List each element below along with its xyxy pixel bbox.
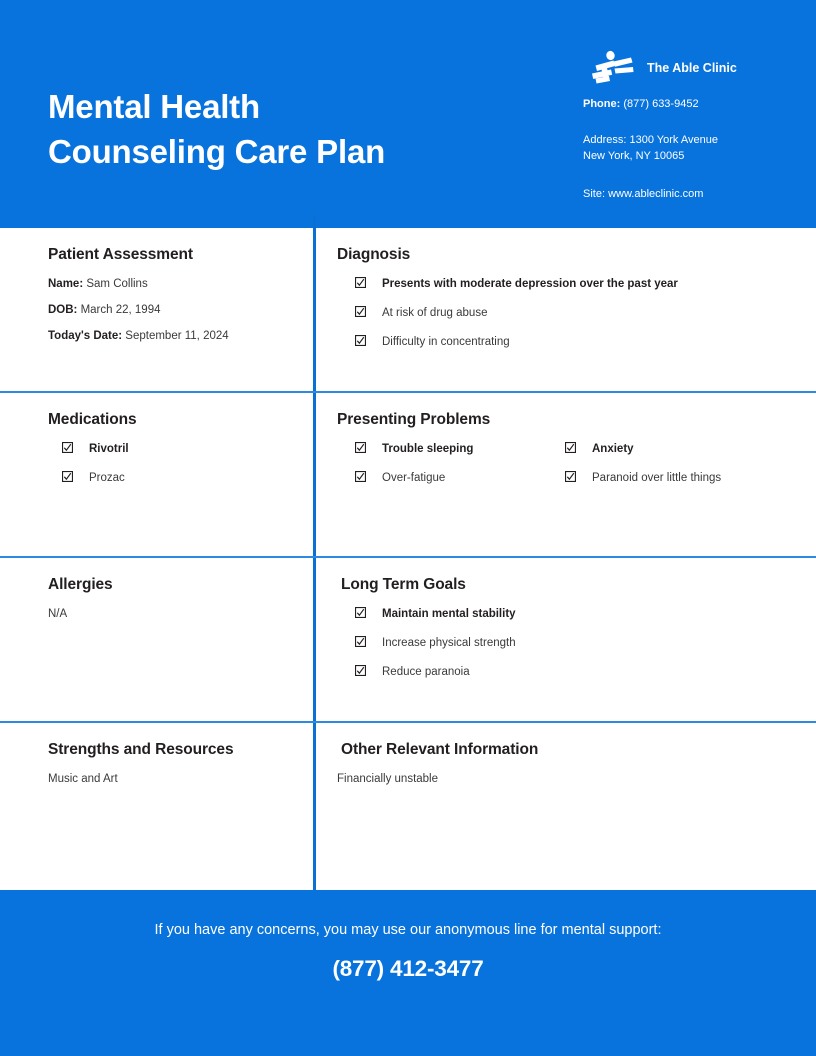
list-item[interactable]: Reduce paranoia	[355, 664, 798, 681]
field-name-value: Sam Collins	[83, 278, 148, 290]
checkbox-checked-icon[interactable]	[355, 665, 366, 676]
diagnosis-list: Presents with moderate depression over t…	[337, 276, 798, 351]
section-row-2: Medications Rivotril Prozac	[0, 393, 816, 558]
field-dob: DOB: March 22, 1994	[48, 302, 297, 318]
list-item-label: Trouble sleeping	[382, 441, 473, 458]
list-item[interactable]: Trouble sleeping	[355, 441, 565, 458]
page-title-line-2: Counseling Care Plan	[48, 129, 385, 174]
section-title-other-relevant-information: Other Relevant Information	[337, 741, 798, 759]
clinic-phone: Phone: (877) 633-9452	[583, 96, 783, 112]
section-title-diagnosis: Diagnosis	[337, 246, 798, 264]
list-item-label: Increase physical strength	[382, 635, 516, 652]
checkbox-checked-icon[interactable]	[355, 442, 366, 453]
list-item[interactable]: At risk of drug abuse	[355, 305, 798, 322]
field-dob-label: DOB:	[48, 304, 77, 316]
presenting-problems-list-b: Anxiety Paranoid over little things	[565, 441, 765, 487]
list-item[interactable]: Anxiety	[565, 441, 765, 458]
field-todays-date-value: September 11, 2024	[122, 330, 229, 342]
presenting-problems-column-b: Anxiety Paranoid over little things	[565, 441, 765, 499]
field-dob-value: March 22, 1994	[77, 304, 160, 316]
list-item[interactable]: Increase physical strength	[355, 635, 798, 652]
list-item[interactable]: Over-fatigue	[355, 470, 565, 487]
document-footer: If you have any concerns, you may use ou…	[0, 890, 816, 1056]
checkbox-checked-icon[interactable]	[355, 335, 366, 346]
section-other-relevant-information: Other Relevant Information Financially u…	[313, 723, 816, 890]
other-relevant-information-value: Financially unstable	[337, 771, 798, 787]
section-presenting-problems: Presenting Problems Trouble sleeping	[313, 393, 816, 556]
section-title-medications: Medications	[48, 411, 297, 429]
list-item-label: Over-fatigue	[382, 470, 445, 487]
checkbox-checked-icon[interactable]	[355, 306, 366, 317]
section-title-presenting-problems: Presenting Problems	[337, 411, 798, 429]
list-item-label: Difficulty in concentrating	[382, 334, 510, 351]
list-item-label: Prozac	[89, 470, 125, 487]
list-item-label: Maintain mental stability	[382, 606, 516, 623]
care-plan-document: Mental Health Counseling Care Plan	[0, 0, 816, 1056]
list-item-label: At risk of drug abuse	[382, 305, 487, 322]
clinic-contact-block: The Able Clinic Phone: (877) 633-9452 Ad…	[583, 46, 783, 202]
list-item[interactable]: Prozac	[62, 470, 297, 487]
allergies-value: N/A	[48, 606, 297, 622]
checkbox-checked-icon[interactable]	[355, 277, 366, 288]
presenting-problems-list-a: Trouble sleeping Over-fatigue	[355, 441, 565, 487]
clinic-phone-label: Phone:	[583, 98, 620, 110]
clinic-name: The Able Clinic	[647, 61, 737, 75]
field-name: Name: Sam Collins	[48, 276, 297, 292]
checkbox-checked-icon[interactable]	[565, 442, 576, 453]
clinic-address-line-2: New York, NY 10065	[583, 148, 783, 164]
section-long-term-goals: Long Term Goals Maintain mental stabilit…	[313, 558, 816, 721]
list-item[interactable]: Difficulty in concentrating	[355, 334, 798, 351]
medications-list: Rivotril Prozac	[48, 441, 297, 487]
list-item[interactable]: Presents with moderate depression over t…	[355, 276, 798, 293]
presenting-problems-column-a: Trouble sleeping Over-fatigue	[355, 441, 565, 499]
section-row-3: Allergies N/A Long Term Goals Maintain m…	[0, 558, 816, 723]
section-diagnosis: Diagnosis Presents with moderate depress…	[313, 228, 816, 391]
section-medications: Medications Rivotril Prozac	[0, 393, 313, 556]
list-item[interactable]: Paranoid over little things	[565, 470, 765, 487]
list-item-label: Paranoid over little things	[592, 470, 721, 487]
clinic-phone-value: (877) 633-9452	[620, 98, 698, 110]
footer-note: If you have any concerns, you may use ou…	[0, 920, 816, 940]
footer-support-phone: (877) 412-3477	[0, 956, 816, 982]
field-todays-date-label: Today's Date:	[48, 330, 122, 342]
checkbox-checked-icon[interactable]	[62, 442, 73, 453]
list-item-label: Presents with moderate depression over t…	[382, 276, 678, 293]
section-strengths-and-resources: Strengths and Resources Music and Art	[0, 723, 313, 890]
checkbox-checked-icon[interactable]	[565, 471, 576, 482]
checkbox-checked-icon[interactable]	[355, 636, 366, 647]
section-row-4: Strengths and Resources Music and Art Ot…	[0, 723, 816, 890]
running-figure-logo-icon	[583, 48, 639, 88]
list-item[interactable]: Maintain mental stability	[355, 606, 798, 623]
section-patient-assessment: Patient Assessment Name: Sam Collins DOB…	[0, 228, 313, 391]
section-title-strengths-and-resources: Strengths and Resources	[48, 741, 297, 759]
clinic-website: Site: www.ableclinic.com	[583, 186, 783, 202]
checkbox-checked-icon[interactable]	[62, 471, 73, 482]
presenting-problems-columns: Trouble sleeping Over-fatigue	[337, 441, 798, 499]
list-item-label: Rivotril	[89, 441, 129, 458]
care-plan-sections: Patient Assessment Name: Sam Collins DOB…	[0, 228, 816, 890]
page-title-line-1: Mental Health	[48, 84, 385, 129]
long-term-goals-list: Maintain mental stability Increase physi…	[337, 606, 798, 681]
section-title-long-term-goals: Long Term Goals	[337, 576, 798, 594]
page-title: Mental Health Counseling Care Plan	[48, 84, 385, 174]
section-allergies: Allergies N/A	[0, 558, 313, 721]
list-item-label: Reduce paranoia	[382, 664, 470, 681]
section-title-allergies: Allergies	[48, 576, 297, 594]
section-row-1: Patient Assessment Name: Sam Collins DOB…	[0, 228, 816, 393]
section-title-patient-assessment: Patient Assessment	[48, 246, 297, 264]
checkbox-checked-icon[interactable]	[355, 471, 366, 482]
field-name-label: Name:	[48, 278, 83, 290]
checkbox-checked-icon[interactable]	[355, 607, 366, 618]
clinic-address: Address: 1300 York Avenue New York, NY 1…	[583, 132, 783, 164]
list-item[interactable]: Rivotril	[62, 441, 297, 458]
strengths-and-resources-value: Music and Art	[48, 771, 297, 787]
list-item-label: Anxiety	[592, 441, 634, 458]
clinic-address-line-1: Address: 1300 York Avenue	[583, 132, 783, 148]
brand-row: The Able Clinic	[583, 46, 783, 90]
field-todays-date: Today's Date: September 11, 2024	[48, 328, 297, 344]
document-header: Mental Health Counseling Care Plan	[0, 0, 816, 228]
